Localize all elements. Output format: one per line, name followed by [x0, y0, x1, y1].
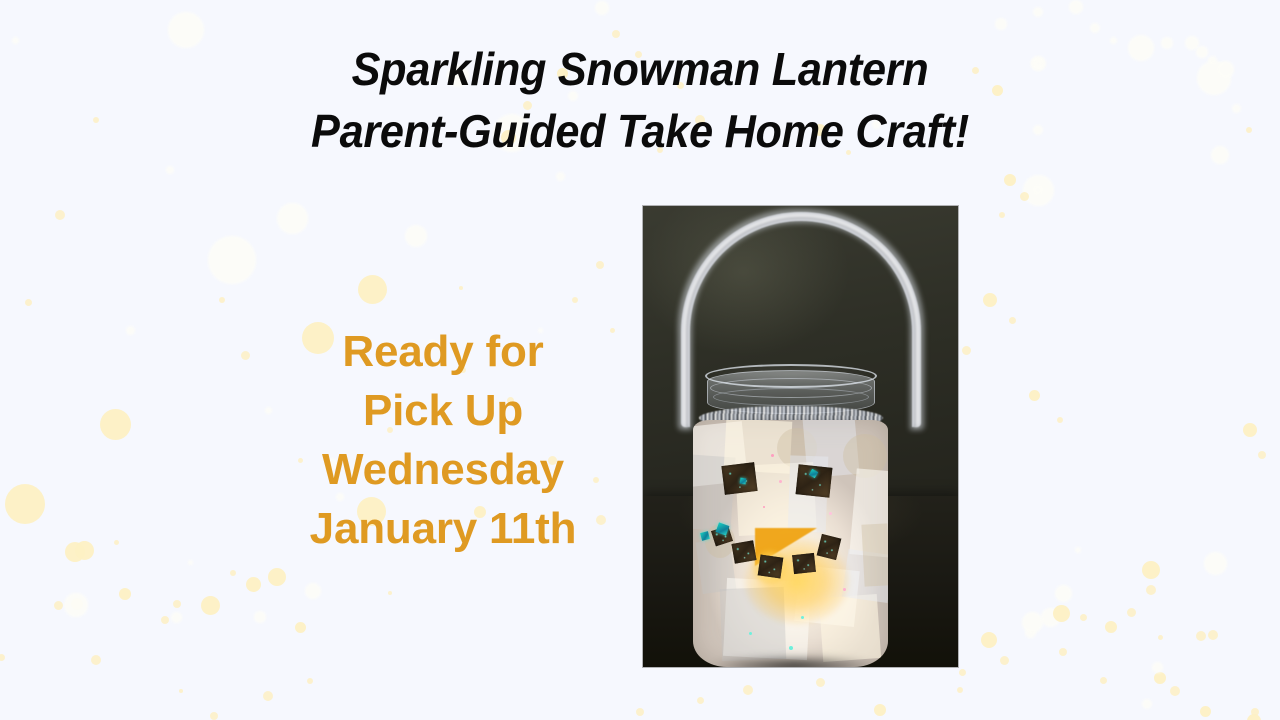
confetti-dot-cream — [307, 678, 313, 684]
glitter-speck — [829, 512, 832, 515]
confetti-dot-white — [1055, 585, 1072, 602]
confetti-dot-cream — [91, 655, 101, 665]
confetti-dot-cream — [1246, 127, 1252, 133]
glitter-speck — [771, 454, 774, 457]
confetti-dot-cream — [959, 669, 966, 676]
confetti-dot-white — [277, 203, 308, 234]
confetti-dot-cream — [201, 596, 220, 615]
title-line-2: Parent-Guided Take Home Craft! — [38, 100, 1241, 162]
confetti-dot-white — [1023, 175, 1054, 206]
confetti-dot-cream — [612, 30, 620, 38]
confetti-dot-cream — [119, 588, 131, 600]
confetti-dot-cream — [1247, 714, 1261, 720]
confetti-dot-cream — [1100, 677, 1107, 684]
confetti-dot-cream — [957, 687, 963, 693]
confetti-dot-cream — [246, 577, 261, 592]
confetti-dot-white — [1034, 185, 1044, 195]
confetti-dot-white — [64, 593, 88, 617]
jar-body — [693, 420, 888, 667]
confetti-dot-white — [1075, 547, 1081, 553]
confetti-dot-white — [556, 172, 565, 181]
confetti-dot-white — [188, 560, 193, 565]
confetti-dot-cream — [636, 708, 644, 716]
confetti-dot-white — [1069, 0, 1083, 14]
glitter-speck — [749, 632, 752, 635]
glitter-speck — [843, 588, 846, 591]
confetti-dot-cream — [1142, 561, 1160, 579]
confetti-dot-cream — [1258, 451, 1266, 459]
confetti-dot-white — [1033, 7, 1043, 17]
confetti-dot-cream — [230, 570, 236, 576]
glitter-speck — [789, 646, 793, 650]
confetti-dot-white — [1022, 612, 1043, 633]
confetti-dot-cream — [358, 275, 387, 304]
confetti-dot-cream — [962, 346, 971, 355]
confetti-dot-cream — [179, 689, 183, 693]
confetti-dot-cream — [697, 697, 704, 704]
confetti-dot-white — [126, 326, 135, 335]
confetti-dot-cream — [54, 601, 63, 610]
confetti-dot-white — [1204, 552, 1227, 575]
confetti-dot-cream — [983, 293, 997, 307]
confetti-dot-cream — [1080, 614, 1087, 621]
confetti-dot-cream — [1196, 631, 1206, 641]
confetti-dot-cream — [1170, 686, 1180, 696]
confetti-dot-cream — [1000, 656, 1009, 665]
confetti-dot-white — [166, 166, 174, 174]
confetti-dot-cream — [210, 712, 218, 720]
confetti-dot-cream — [1200, 706, 1211, 717]
confetti-dot-cream — [874, 704, 886, 716]
confetti-dot-cream — [55, 210, 65, 220]
pickup-info-block: Ready for Pick Up Wednesday January 11th — [208, 322, 678, 558]
confetti-dot-white — [208, 236, 256, 284]
page-title: Sparkling Snowman Lantern Parent-Guided … — [38, 38, 1241, 162]
confetti-dot-cream — [71, 598, 83, 610]
glitter-speck — [779, 480, 782, 483]
confetti-dot-cream — [75, 541, 94, 560]
confetti-dot-cream — [268, 568, 286, 586]
confetti-dot-cream — [743, 685, 753, 695]
glitter-speck — [801, 616, 804, 619]
sequin — [740, 478, 747, 485]
confetti-dot-white — [305, 583, 321, 599]
confetti-dot-cream — [25, 299, 32, 306]
confetti-dot-white — [1041, 608, 1060, 627]
pickup-line-2: Pick Up — [208, 381, 678, 440]
confetti-dot-cream — [219, 297, 225, 303]
confetti-dot-cream — [161, 616, 169, 624]
confetti-dot-cream — [816, 678, 825, 687]
confetti-dot-cream — [1053, 605, 1070, 622]
confetti-dot-cream — [263, 691, 273, 701]
confetti-dot-cream — [1059, 648, 1067, 656]
confetti-dot-cream — [114, 540, 119, 545]
confetti-dot-cream — [1127, 608, 1136, 617]
confetti-dot-cream — [1154, 672, 1166, 684]
confetti-dot-cream — [572, 297, 578, 303]
confetti-dot-white — [595, 1, 609, 15]
confetti-dot-cream — [1009, 317, 1016, 324]
confetti-dot-cream — [1243, 423, 1257, 437]
confetti-dot-cream — [1029, 390, 1040, 401]
mason-jar — [693, 370, 888, 667]
confetti-dot-cream — [981, 632, 997, 648]
confetti-dot-cream — [596, 261, 604, 269]
confetti-dot-cream — [100, 409, 131, 440]
confetti-dot-cream — [0, 654, 5, 661]
confetti-dot-cream — [459, 286, 463, 290]
lantern-photo — [643, 206, 958, 667]
jar-rim-ring-lower — [713, 388, 869, 406]
confetti-dot-white — [995, 18, 1007, 30]
confetti-dot-white — [1142, 699, 1152, 709]
snowman-mouth-coal — [758, 555, 784, 579]
confetti-dot-cream — [1158, 635, 1163, 640]
confetti-dot-cream — [295, 622, 306, 633]
confetti-dot-cream — [1146, 585, 1156, 595]
poster-canvas: Sparkling Snowman Lantern Parent-Guided … — [0, 0, 1280, 720]
confetti-dot-cream — [1251, 708, 1259, 716]
confetti-dot-white — [12, 37, 19, 44]
snowman-mouth-coal — [731, 540, 756, 564]
glitter-speck — [763, 506, 765, 508]
confetti-dot-white — [171, 612, 182, 623]
title-line-1: Sparkling Snowman Lantern — [38, 38, 1241, 100]
tissue-patch — [861, 523, 888, 586]
confetti-dot-white — [405, 225, 427, 247]
confetti-dot-cream — [1057, 417, 1063, 423]
confetti-dot-white — [1152, 662, 1163, 673]
confetti-dot-cream — [5, 484, 45, 524]
pickup-line-1: Ready for — [208, 322, 678, 381]
confetti-dot-white — [1025, 627, 1036, 638]
confetti-dot-white — [254, 611, 266, 623]
snowman-mouth-coal — [792, 553, 816, 574]
confetti-dot-cream — [1020, 192, 1029, 201]
confetti-dot-cream — [65, 542, 85, 562]
confetti-dot-white — [1090, 23, 1100, 33]
confetti-dot-cream — [1208, 630, 1218, 640]
confetti-dot-cream — [388, 591, 392, 595]
confetti-dot-cream — [1105, 621, 1117, 633]
confetti-dot-cream — [173, 600, 181, 608]
confetti-dot-white — [1033, 185, 1043, 195]
pickup-line-4: January 11th — [208, 499, 678, 558]
pickup-line-3: Wednesday — [208, 440, 678, 499]
confetti-dot-cream — [1004, 174, 1016, 186]
confetti-dot-cream — [999, 212, 1005, 218]
